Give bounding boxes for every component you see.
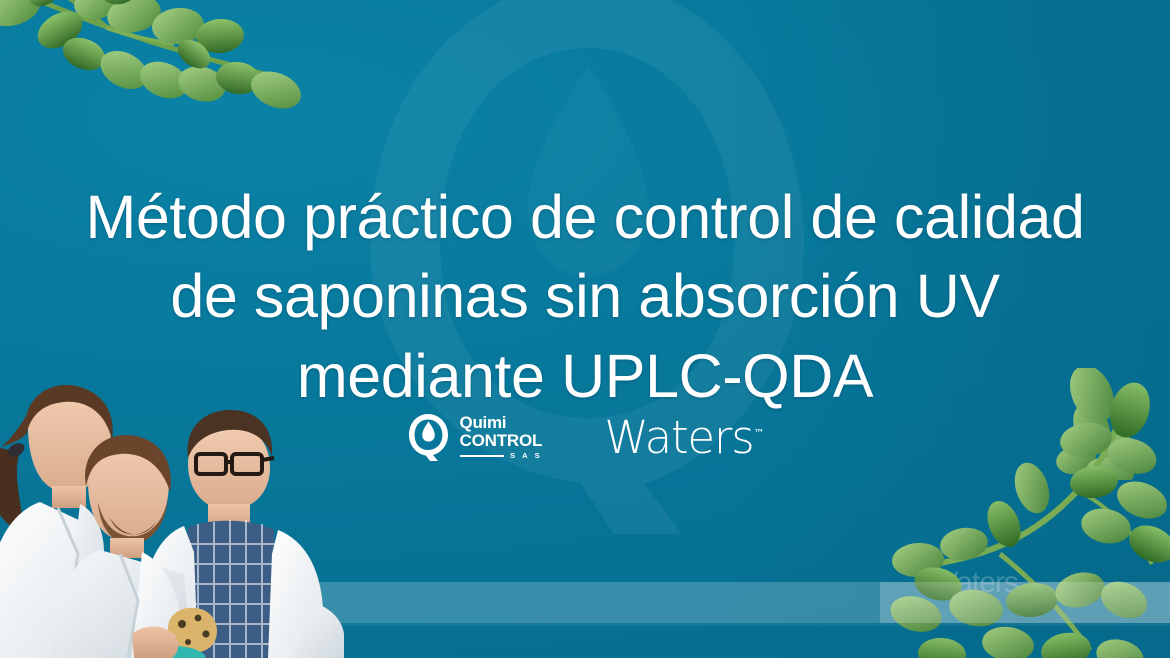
bottom-light-band [0,582,1170,623]
quimi-line-1: Quimi [460,414,507,431]
bottom-light-band-edge [0,623,1170,626]
quimi-line-3-row: S A S [460,450,543,460]
waters-trademark-icon: ™ [753,427,764,440]
logo-row: Quimi CONTROL S A S Waters™ [0,412,1170,462]
page-title: Método práctico de control de calidad de… [60,178,1110,416]
q-droplet-icon [406,412,452,462]
quimi-control-logo: Quimi CONTROL S A S [406,412,543,462]
presentation-slide: Waters Método práctico de control de cal… [0,0,1170,658]
waters-logo: Waters™ [604,415,764,460]
quimi-sas-label: S A S [510,452,542,460]
waters-wordmark: Waters [604,411,753,464]
quimi-control-wordmark: Quimi CONTROL S A S [460,414,543,460]
quimi-rule [460,455,505,457]
quimi-line-2: CONTROL [460,432,543,449]
